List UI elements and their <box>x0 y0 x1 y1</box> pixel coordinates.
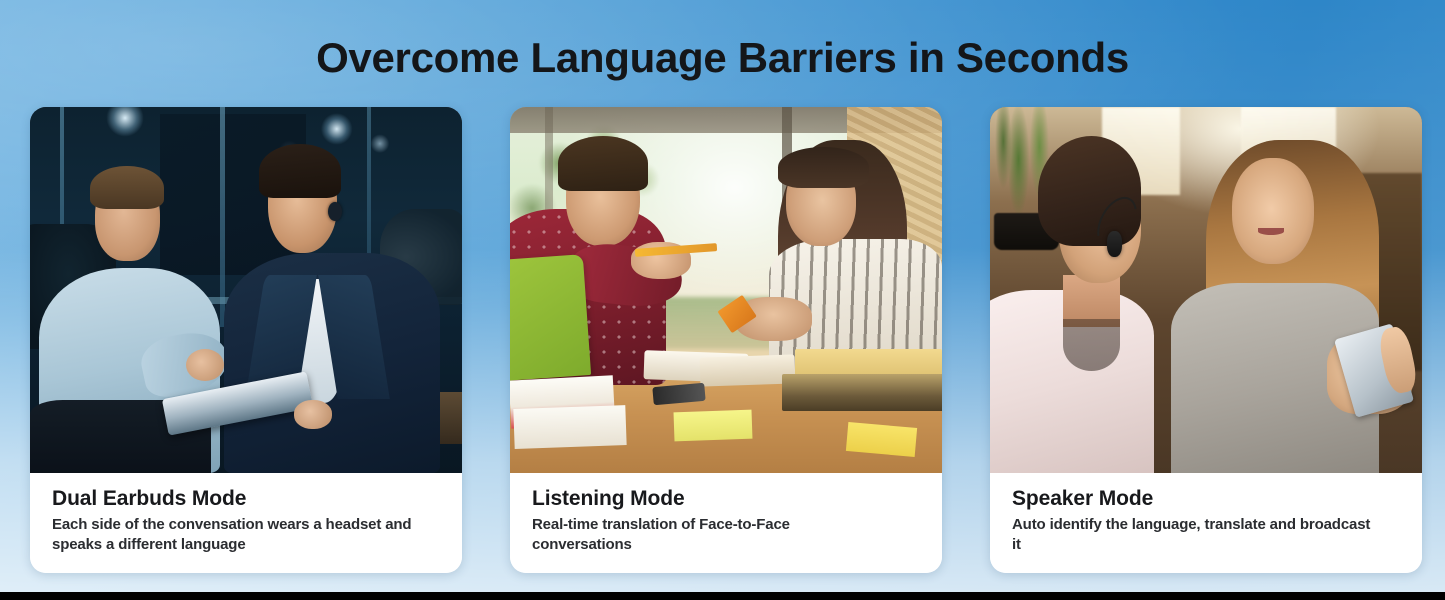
book-stack-bottom <box>782 374 942 411</box>
window-mullion-center <box>220 107 225 327</box>
card-body-speaker: Speaker Mode Auto identify the language,… <box>990 473 1422 573</box>
photo-businessmen-scene <box>30 107 462 473</box>
card-body-listening: Listening Mode Real-time translation of … <box>510 473 942 573</box>
laptop <box>510 254 592 380</box>
card-body-dual-earbuds: Dual Earbuds Mode Each side of the conve… <box>30 473 462 573</box>
earpiece-icon <box>1107 231 1123 257</box>
feature-card-dual-earbuds[interactable]: Dual Earbuds Mode Each side of the conve… <box>30 107 462 573</box>
earbud-icon <box>328 202 342 221</box>
woman-right-smile <box>1258 228 1284 235</box>
card-description: Each side of the convensation wears a he… <box>52 515 412 555</box>
card-photo-listening <box>510 107 942 473</box>
card-photo-speaker <box>990 107 1422 473</box>
photo-women-scene <box>990 107 1422 473</box>
man-left-hair <box>90 166 163 210</box>
card-photo-dual-earbuds <box>30 107 462 473</box>
card-description: Auto identify the language, translate an… <box>1012 515 1372 555</box>
card-title: Dual Earbuds Mode <box>52 487 440 511</box>
page-title: Overcome Language Barriers in Seconds <box>0 34 1445 82</box>
photo-students-scene <box>510 107 942 473</box>
student-right-fringe <box>778 147 869 187</box>
woman-left-neckline <box>1063 319 1119 370</box>
feature-card-listening[interactable]: Listening Mode Real-time translation of … <box>510 107 942 573</box>
student-left-hair <box>558 136 649 191</box>
card-title: Speaker Mode <box>1012 487 1400 511</box>
man-right-hand <box>294 400 333 429</box>
feature-card-list: Dual Earbuds Mode Each side of the conve… <box>30 107 1422 573</box>
card-description: Real-time translation of Face-to-Face co… <box>532 515 892 555</box>
card-title: Listening Mode <box>532 487 920 511</box>
notebook-stack-lower <box>514 405 628 449</box>
woman-right-face <box>1232 158 1314 264</box>
bottom-black-bar <box>0 592 1445 600</box>
sticky-note-left <box>674 409 753 441</box>
feature-card-speaker[interactable]: Speaker Mode Auto identify the language,… <box>990 107 1422 573</box>
man-right-hair <box>259 144 341 199</box>
promo-banner: Overcome Language Barriers in Seconds <box>0 0 1445 600</box>
